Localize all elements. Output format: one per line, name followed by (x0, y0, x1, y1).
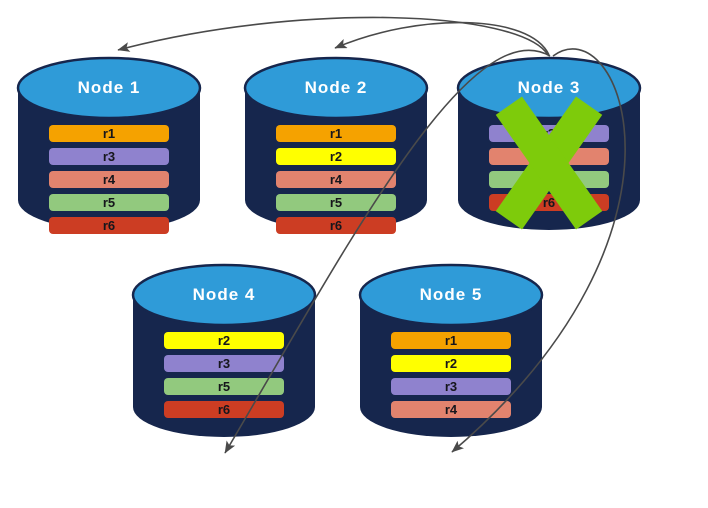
replica-bar[interactable]: r5 (164, 378, 284, 395)
replica-bar[interactable]: r6 (276, 217, 396, 234)
cylinder-top-ellipse (360, 265, 542, 325)
replica-bar[interactable]: r3 (49, 148, 169, 165)
cylinder-top-ellipse (133, 265, 315, 325)
replica-bar[interactable]: r5 (489, 171, 609, 188)
cylinder-top-ellipse (245, 58, 427, 118)
replica-list: r1r3r4r5r6 (18, 125, 200, 234)
node-cylinder[interactable]: Node 2r1r2r4r5r6 (245, 58, 427, 230)
replica-bar[interactable]: r2 (391, 355, 511, 372)
node-cylinder[interactable]: Node 3r3r4r5r6 (458, 58, 640, 230)
node-cylinder[interactable]: Node 4r2r3r5r6 (133, 265, 315, 437)
replica-bar[interactable]: r1 (49, 125, 169, 142)
replica-list: r3r4r5r6 (458, 125, 640, 211)
cylinder-top-ellipse (458, 58, 640, 118)
replica-bar[interactable]: r3 (489, 125, 609, 142)
replica-bar[interactable]: r6 (489, 194, 609, 211)
replica-bar[interactable]: r2 (276, 148, 396, 165)
replica-list: r1r2r4r5r6 (245, 125, 427, 234)
replica-bar[interactable]: r6 (164, 401, 284, 418)
replica-bar[interactable]: r2 (164, 332, 284, 349)
replication-arrow (118, 17, 548, 55)
replica-bar[interactable]: r4 (489, 148, 609, 165)
node-cylinder[interactable]: Node 5r1r2r3r4 (360, 265, 542, 437)
replica-bar[interactable]: r3 (164, 355, 284, 372)
replica-bar[interactable]: r3 (391, 378, 511, 395)
replica-bar[interactable]: r4 (276, 171, 396, 188)
replication-diagram: Node 1r1r3r4r5r6Node 2r1r2r4r5r6Node 3r3… (0, 0, 708, 508)
replica-bar[interactable]: r4 (391, 401, 511, 418)
replica-bar[interactable]: r4 (49, 171, 169, 188)
replica-bar[interactable]: r5 (276, 194, 396, 211)
replica-list: r2r3r5r6 (133, 332, 315, 418)
replication-arrow (335, 23, 549, 55)
replica-bar[interactable]: r5 (49, 194, 169, 211)
replica-bar[interactable]: r1 (276, 125, 396, 142)
node-cylinder[interactable]: Node 1r1r3r4r5r6 (18, 58, 200, 230)
replica-bar[interactable]: r6 (49, 217, 169, 234)
replica-list: r1r2r3r4 (360, 332, 542, 418)
cylinder-top-ellipse (18, 58, 200, 118)
replica-bar[interactable]: r1 (391, 332, 511, 349)
